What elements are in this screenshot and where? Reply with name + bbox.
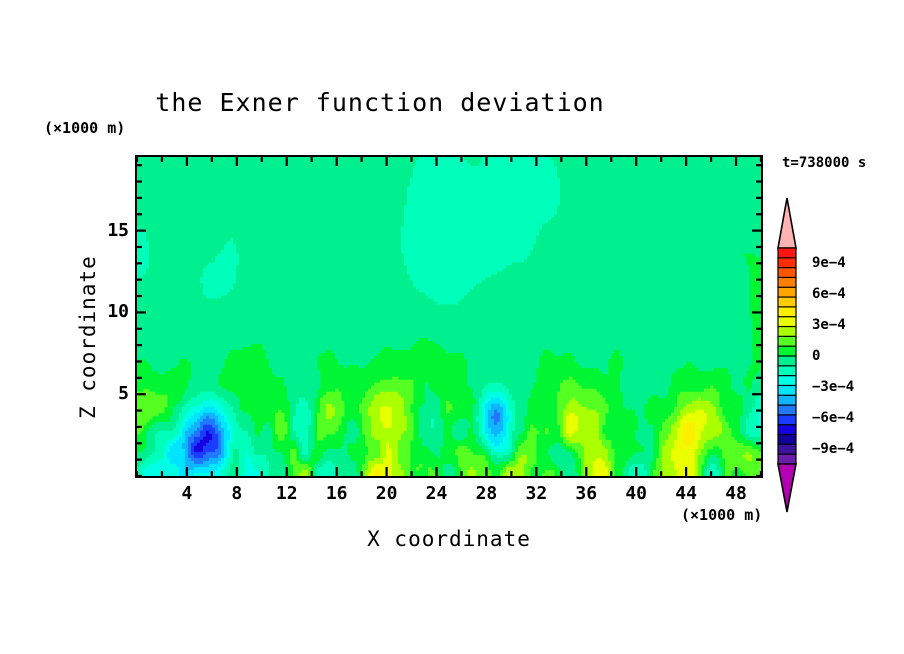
y-tick-label: 15: [95, 220, 129, 241]
contour-plot-area: [135, 155, 763, 478]
x-tick-label: 28: [466, 483, 506, 504]
x-tick-label: 32: [516, 483, 556, 504]
contour-field: [137, 157, 761, 476]
page-title: the Exner function deviation: [0, 88, 760, 117]
x-tick-label: 20: [367, 483, 407, 504]
x-tick-label: 16: [317, 483, 357, 504]
x-tick-label: 8: [217, 483, 257, 504]
x-axis-unit-label: (×1000 m): [681, 506, 762, 524]
x-tick-label: 12: [267, 483, 307, 504]
y-tick-label: 10: [95, 301, 129, 322]
x-tick-label: 44: [666, 483, 706, 504]
colorbar: [770, 196, 818, 516]
time-annotation: t=738000 s: [782, 155, 866, 171]
y-axis-unit-label: (×1000 m): [44, 119, 125, 137]
colorbar-tick-label: 3e−4: [812, 317, 846, 333]
colorbar-tick-label: 9e−4: [812, 255, 846, 271]
x-tick-label: 48: [716, 483, 756, 504]
x-axis-title: X coordinate: [135, 527, 763, 551]
y-tick-label: 5: [95, 383, 129, 404]
x-tick-label: 24: [417, 483, 457, 504]
colorbar-tick-label: −6e−4: [812, 410, 854, 426]
colorbar-tick-label: −3e−4: [812, 379, 854, 395]
colorbar-tick-label: 0: [812, 348, 820, 364]
colorbar-tick-label: −9e−4: [812, 441, 854, 457]
colorbar-tick-label: 6e−4: [812, 286, 846, 302]
x-tick-label: 36: [566, 483, 606, 504]
x-tick-label: 40: [616, 483, 656, 504]
x-tick-label: 4: [167, 483, 207, 504]
colorbar-swatches: [770, 196, 818, 516]
y-axis-title: Z coordinate: [76, 255, 100, 419]
